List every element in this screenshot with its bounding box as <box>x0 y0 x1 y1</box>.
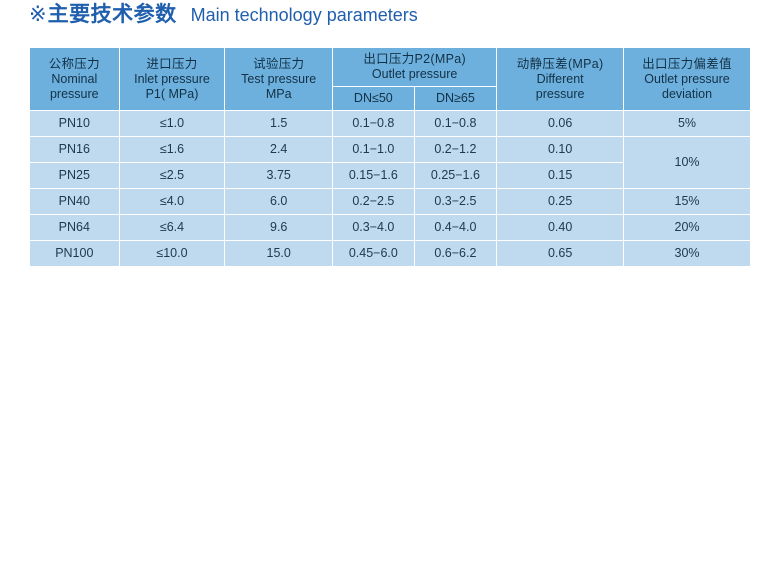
cell-different-pressure: 0.25 <box>497 189 623 214</box>
table-row: PN40≤4.06.00.2−2.50.3−2.50.2515% <box>30 189 750 214</box>
cell-different-pressure: 0.06 <box>497 111 623 136</box>
cell-outlet-dn50: 0.2−2.5 <box>333 189 414 214</box>
header-test-pressure-en1: Test pressure <box>227 72 330 87</box>
header-nominal-pressure: 公称压力 Nominal pressure <box>30 48 119 110</box>
header-different-pressure-en2: pressure <box>499 87 621 102</box>
cell-outlet-dn65: 0.3−2.5 <box>415 189 497 214</box>
cell-outlet-dn50: 0.1−0.8 <box>333 111 414 136</box>
cell-outlet-dn65: 0.6−6.2 <box>415 241 497 266</box>
cell-nominal-pressure: PN10 <box>30 111 119 136</box>
header-different-pressure-en1: Different <box>499 72 621 87</box>
header-nominal-pressure-cn: 公称压力 <box>32 57 117 72</box>
table-row: PN16≤1.62.40.1−1.00.2−1.20.1010% <box>30 137 750 162</box>
cell-different-pressure: 0.65 <box>497 241 623 266</box>
cell-test-pressure: 15.0 <box>225 241 332 266</box>
cell-inlet-pressure: ≤1.6 <box>120 137 225 162</box>
table-header-row-primary: 公称压力 Nominal pressure 进口压力 Inlet pressur… <box>30 48 750 86</box>
cell-outlet-dn65: 0.4−4.0 <box>415 215 497 240</box>
page-title-chinese: 主要技术参数 <box>48 4 177 25</box>
cell-test-pressure: 6.0 <box>225 189 332 214</box>
cell-outlet-dn50: 0.45−6.0 <box>333 241 414 266</box>
header-test-pressure: 试验压力 Test pressure MPa <box>225 48 332 110</box>
header-inlet-pressure-en2: P1( MPa) <box>122 87 223 102</box>
table-row: PN10≤1.01.50.1−0.80.1−0.80.065% <box>30 111 750 136</box>
cell-outlet-dn50: 0.15−1.6 <box>333 163 414 188</box>
cell-nominal-pressure: PN40 <box>30 189 119 214</box>
cell-outlet-pressure-deviation: 20% <box>624 215 750 240</box>
cell-inlet-pressure: ≤1.0 <box>120 111 225 136</box>
header-deviation-en1: Outlet pressure <box>626 72 748 87</box>
header-different-pressure-cn: 动静压差(MPa) <box>499 57 621 72</box>
cell-nominal-pressure: PN100 <box>30 241 119 266</box>
cell-outlet-pressure-deviation: 30% <box>624 241 750 266</box>
header-deviation-cn: 出口压力偏差值 <box>626 57 748 72</box>
cell-inlet-pressure: ≤6.4 <box>120 215 225 240</box>
page-title-english: Main technology parameters <box>191 6 418 24</box>
page-title: ※ 主要技术参数 Main technology parameters <box>29 4 418 25</box>
cell-different-pressure: 0.10 <box>497 137 623 162</box>
header-different-pressure: 动静压差(MPa) Different pressure <box>497 48 623 110</box>
cell-inlet-pressure: ≤10.0 <box>120 241 225 266</box>
reference-mark-icon: ※ <box>29 4 47 25</box>
table-row: PN100≤10.015.00.45−6.00.6−6.20.6530% <box>30 241 750 266</box>
header-outlet-pressure-deviation: 出口压力偏差值 Outlet pressure deviation <box>624 48 750 110</box>
cell-test-pressure: 1.5 <box>225 111 332 136</box>
table-row: PN64≤6.49.60.3−4.00.4−4.00.4020% <box>30 215 750 240</box>
cell-different-pressure: 0.15 <box>497 163 623 188</box>
cell-nominal-pressure: PN25 <box>30 163 119 188</box>
header-outlet-pressure-group: 出口压力P2(MPa) Outlet pressure <box>333 48 496 86</box>
cell-outlet-pressure-deviation: 5% <box>624 111 750 136</box>
cell-inlet-pressure: ≤4.0 <box>120 189 225 214</box>
header-deviation-en2: deviation <box>626 87 748 102</box>
cell-outlet-dn65: 0.2−1.2 <box>415 137 497 162</box>
table-body: PN10≤1.01.50.1−0.80.1−0.80.065%PN16≤1.62… <box>30 111 750 266</box>
parameters-table-container: 公称压力 Nominal pressure 进口压力 Inlet pressur… <box>29 47 751 267</box>
cell-test-pressure: 3.75 <box>225 163 332 188</box>
table-header: 公称压力 Nominal pressure 进口压力 Inlet pressur… <box>30 48 750 110</box>
cell-nominal-pressure: PN16 <box>30 137 119 162</box>
main-technology-parameters-table: 公称压力 Nominal pressure 进口压力 Inlet pressur… <box>29 47 751 267</box>
header-outlet-dn65: DN≥65 <box>415 87 497 110</box>
cell-outlet-dn65: 0.25−1.6 <box>415 163 497 188</box>
cell-nominal-pressure: PN64 <box>30 215 119 240</box>
header-outlet-pressure-cn: 出口压力P2(MPa) <box>335 52 494 67</box>
cell-outlet-pressure-deviation: 15% <box>624 189 750 214</box>
header-inlet-pressure: 进口压力 Inlet pressure P1( MPa) <box>120 48 225 110</box>
cell-inlet-pressure: ≤2.5 <box>120 163 225 188</box>
header-test-pressure-cn: 试验压力 <box>227 57 330 72</box>
cell-outlet-dn65: 0.1−0.8 <box>415 111 497 136</box>
cell-outlet-pressure-deviation: 10% <box>624 137 750 188</box>
header-outlet-pressure-en1: Outlet pressure <box>335 67 494 82</box>
header-test-pressure-en2: MPa <box>227 87 330 102</box>
cell-outlet-dn50: 0.3−4.0 <box>333 215 414 240</box>
header-nominal-pressure-en1: Nominal <box>32 72 117 87</box>
header-inlet-pressure-cn: 进口压力 <box>122 57 223 72</box>
cell-test-pressure: 9.6 <box>225 215 332 240</box>
header-inlet-pressure-en1: Inlet pressure <box>122 72 223 87</box>
cell-outlet-dn50: 0.1−1.0 <box>333 137 414 162</box>
cell-different-pressure: 0.40 <box>497 215 623 240</box>
header-outlet-dn50: DN≤50 <box>333 87 414 110</box>
header-nominal-pressure-en2: pressure <box>32 87 117 102</box>
cell-test-pressure: 2.4 <box>225 137 332 162</box>
